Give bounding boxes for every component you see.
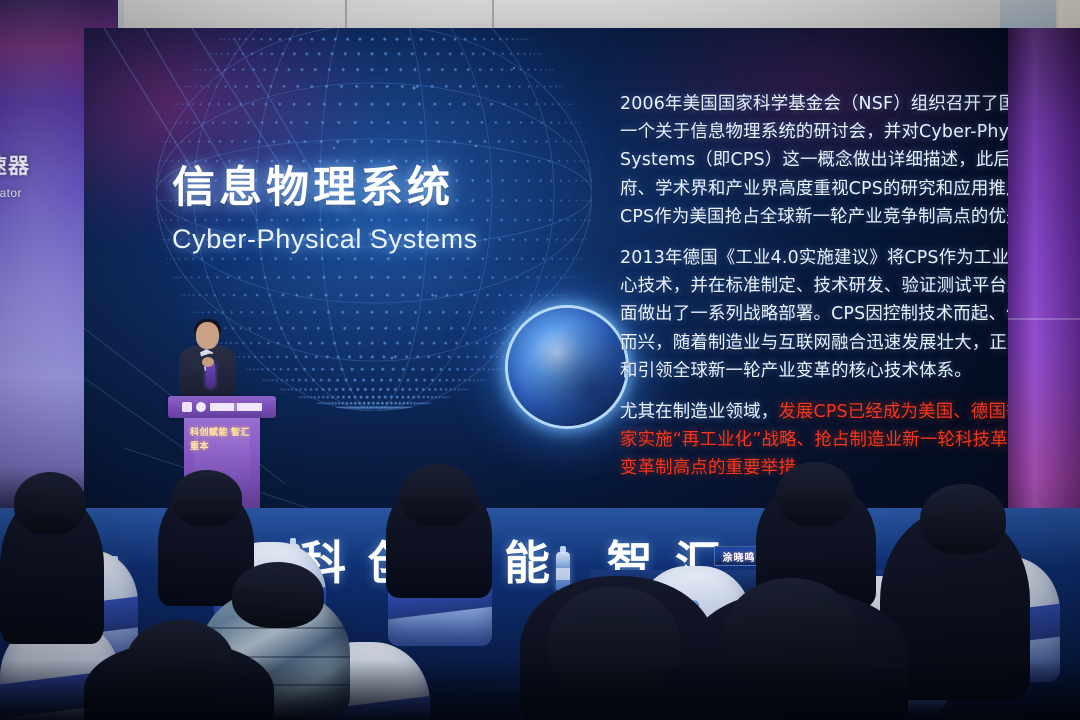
audience-head-5	[920, 484, 1006, 554]
slide-paragraph-2: 2013年德国《工业4.0实施建议》将CPS作为工业4.0的核心技术，并在标准制…	[620, 244, 1008, 385]
slide-paragraph-1: 2006年美国国家科学基金会（NSF）组织召开了国际上第一个关于信息物理系统的研…	[620, 90, 1008, 231]
audience-head-3	[400, 464, 476, 526]
slide-subtitle: Cyber-Physical Systems	[172, 224, 532, 255]
sponsor-logo-icon-1	[182, 402, 192, 412]
audience-head-2	[172, 470, 242, 526]
sponsor-logo-icon-2	[196, 402, 206, 412]
audience-head-puffer	[232, 562, 324, 628]
foreground-shadow	[0, 660, 1080, 720]
glowing-orb-graphic	[508, 308, 626, 426]
audience-head-4	[776, 462, 854, 526]
podium-sponsor-logos	[182, 401, 262, 413]
right-wall-seam	[1004, 318, 1080, 320]
slide-body-text: 2006年美国国家科学基金会（NSF）组织召开了国际上第一个关于信息物理系统的研…	[620, 90, 1008, 495]
sponsor-logo-wordmark	[210, 403, 262, 411]
conference-stage-photo: 速器 elerator	[0, 0, 1080, 720]
slide-title: 信息物理系统	[172, 166, 502, 212]
slide-paragraph-3-lead: 尤其在制造业领域，	[620, 402, 778, 422]
audience-head-1	[14, 472, 86, 534]
speaker-head	[196, 322, 219, 349]
speaker-person	[176, 322, 238, 406]
podium-slogan: 科创赋能 智汇重本	[190, 426, 254, 453]
